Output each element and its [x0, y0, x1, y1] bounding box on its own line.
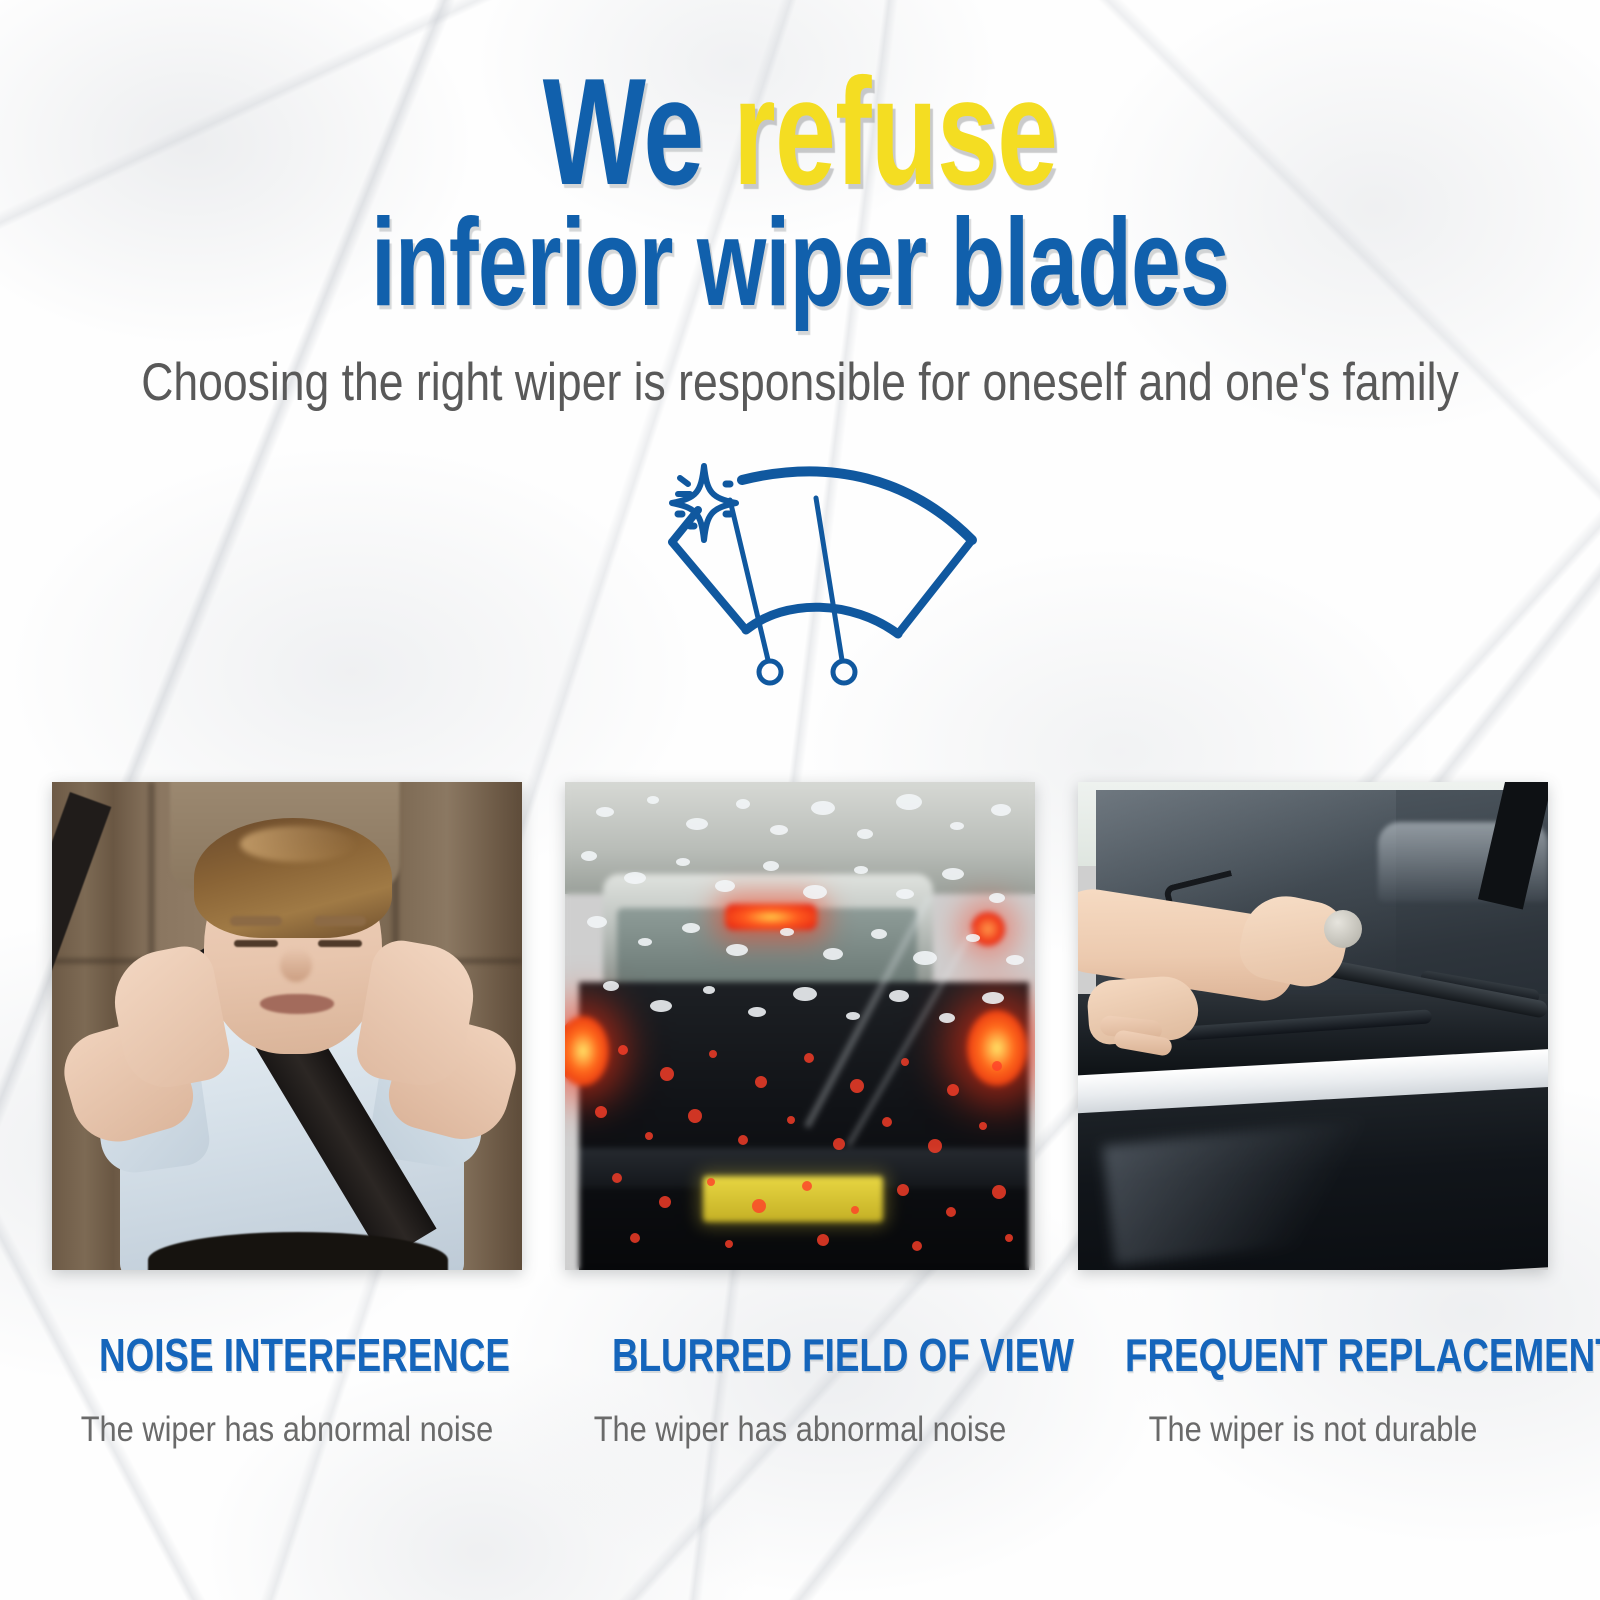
caption-title: FREQUENT REPLACEMENT [1125, 1328, 1501, 1382]
photo-rainy-windshield [565, 782, 1035, 1270]
headline-block: We refuse inferior wiper blades [0, 58, 1600, 324]
caption-subtitle: The wiper has abnormal noise [593, 1410, 1007, 1450]
caption-subtitle: The wiper is not durable [1106, 1410, 1520, 1450]
caption-col-blurred-view: BLURRED FIELD OF VIEW The wiper has abno… [565, 1328, 1035, 1450]
caption-subtitle: The wiper has abnormal noise [80, 1410, 494, 1450]
photo-row [52, 782, 1548, 1270]
caption-title: BLURRED FIELD OF VIEW [612, 1328, 988, 1382]
photo-wiper-replacement [1078, 782, 1548, 1270]
photo-child-covering-ears [52, 782, 522, 1270]
headline-line-1: We refuse [224, 58, 1376, 207]
caption-row: NOISE INTERFERENCE The wiper has abnorma… [52, 1328, 1548, 1450]
windshield-wiper-sparkle-icon [580, 448, 1020, 698]
headline-line-2: inferior wiper blades [224, 203, 1376, 325]
headline-we: We [543, 47, 733, 217]
page-subtitle: Choosing the right wiper is responsible … [128, 352, 1472, 413]
caption-col-frequent-replacement: FREQUENT REPLACEMENT The wiper is not du… [1078, 1328, 1548, 1450]
caption-title: NOISE INTERFERENCE [99, 1328, 475, 1382]
caption-col-noise: NOISE INTERFERENCE The wiper has abnorma… [52, 1328, 522, 1450]
headline-refuse: refuse [733, 47, 1057, 217]
